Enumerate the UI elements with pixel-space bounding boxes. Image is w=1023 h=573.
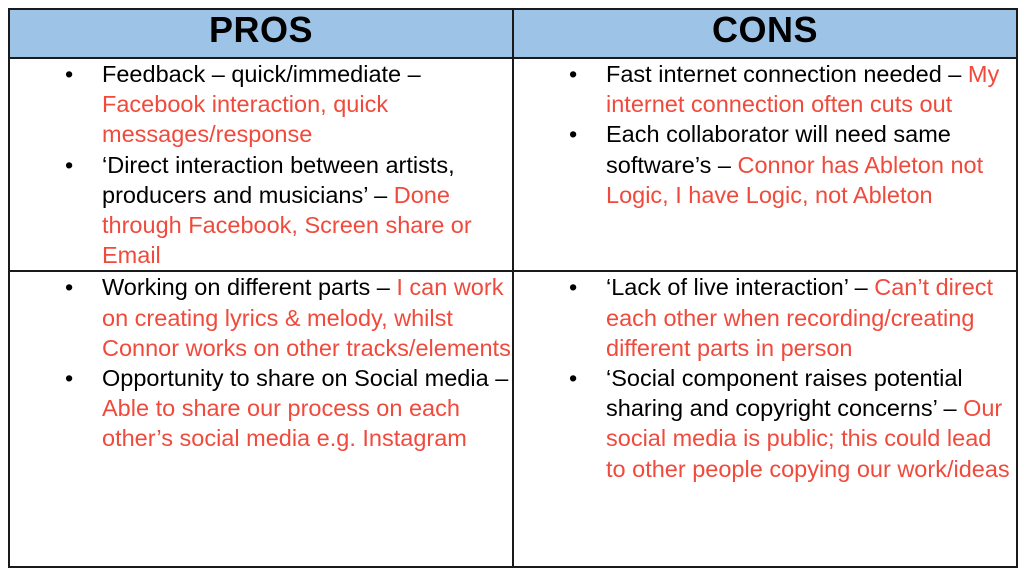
bullet-text-red: Facebook interaction, quick messages/res… <box>102 91 388 147</box>
list-item: Opportunity to share on Social media – A… <box>10 363 512 454</box>
list-item: Working on different parts – I can work … <box>10 272 512 363</box>
list-item: Each collaborator will need same softwar… <box>514 119 1016 210</box>
cell-cons-row-2: ‘Lack of live interaction’ – Can’t direc… <box>513 271 1017 567</box>
cell-pros-row-1: Feedback – quick/immediate – Facebook in… <box>9 58 513 271</box>
list-item: Fast internet connection needed – My int… <box>514 59 1016 119</box>
pros-cons-table: PROS CONS Feedback – quick/immediate – F… <box>8 8 1018 568</box>
bullet-text-black: Fast internet connection needed – <box>606 61 968 87</box>
header-cell-cons: CONS <box>513 9 1017 58</box>
bullet-text-black: ‘Social component raises potential shari… <box>606 365 963 421</box>
bullet-text-black: Opportunity to share on Social media – <box>102 365 508 391</box>
bullet-list-cons-row-1: Fast internet connection needed – My int… <box>514 59 1016 210</box>
header-cell-pros: PROS <box>9 9 513 58</box>
table-row: Feedback – quick/immediate – Facebook in… <box>9 58 1017 271</box>
bullet-list-pros-row-2: Working on different parts – I can work … <box>10 272 512 453</box>
list-item: ‘Social component raises potential shari… <box>514 363 1016 484</box>
table-header-row: PROS CONS <box>9 9 1017 58</box>
page-root: PROS CONS Feedback – quick/immediate – F… <box>0 0 1023 573</box>
list-item: ‘Direct interaction between artists, pro… <box>10 150 512 271</box>
header-label-cons: CONS <box>514 10 1016 50</box>
bullet-list-cons-row-2: ‘Lack of live interaction’ – Can’t direc… <box>514 272 1016 483</box>
cell-cons-row-1: Fast internet connection needed – My int… <box>513 58 1017 271</box>
table-row: Working on different parts – I can work … <box>9 271 1017 567</box>
bullet-text-black: Working on different parts – <box>102 274 396 300</box>
bullet-text-black: ‘Lack of live interaction’ – <box>606 274 874 300</box>
cell-pros-row-2: Working on different parts – I can work … <box>9 271 513 567</box>
bullet-text-black: Feedback – quick/immediate – <box>102 61 421 87</box>
bullet-text-red: Able to share our process on each other’… <box>102 395 467 451</box>
list-item: Feedback – quick/immediate – Facebook in… <box>10 59 512 150</box>
list-item: ‘Lack of live interaction’ – Can’t direc… <box>514 272 1016 363</box>
bullet-list-pros-row-1: Feedback – quick/immediate – Facebook in… <box>10 59 512 270</box>
header-label-pros: PROS <box>10 10 512 50</box>
